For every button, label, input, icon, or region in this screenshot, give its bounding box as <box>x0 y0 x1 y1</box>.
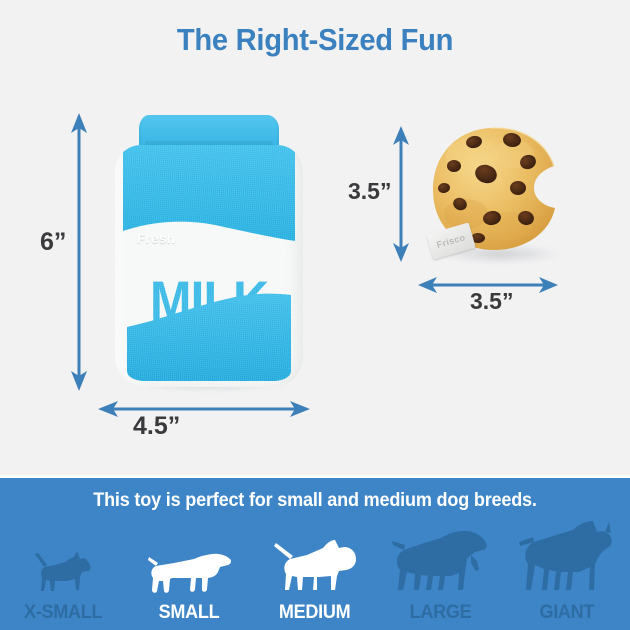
cookie-plush-toy: Frisco <box>430 126 572 266</box>
breed-item-large[interactable]: LARGE <box>378 516 504 628</box>
breed-item-small[interactable]: SMALL <box>126 516 252 628</box>
page-title: The Right-Sized Fun <box>19 22 611 58</box>
cookie-width-label: 3.5” <box>470 288 513 315</box>
dachshund-silhouette-icon <box>146 520 232 598</box>
bull-terrier-silhouette-icon <box>273 520 357 598</box>
breed-size-scale: X-SMALL SMALL MEDIUM <box>0 516 630 628</box>
breed-label-x-small: X-SMALL <box>24 598 102 628</box>
breed-label-large: LARGE <box>410 598 472 628</box>
milk-carton-body: Fresh MILK <box>115 145 303 387</box>
milk-height-label: 6” <box>40 228 66 257</box>
retriever-silhouette-icon <box>391 520 491 598</box>
dog-breed-size-banner: This toy is perfect for small and medium… <box>0 475 630 630</box>
milk-carton-blue-bottom-wave <box>123 293 295 387</box>
milk-carton-blue-top-panel <box>123 145 295 275</box>
size-comparison-area: The Right-Sized Fun <box>0 0 630 475</box>
breed-banner-caption: This toy is perfect for small and medium… <box>16 490 615 512</box>
milk-carton-plush-toy: Fresh MILK <box>115 115 303 393</box>
cookie-height-arrow <box>392 126 410 267</box>
chihuahua-silhouette-icon <box>33 520 93 598</box>
product-size-infographic: The Right-Sized Fun <box>0 0 630 630</box>
milk-width-label: 4.5” <box>133 412 180 441</box>
breed-label-medium: MEDIUM <box>279 598 350 628</box>
milk-width-arrow <box>98 400 310 423</box>
breed-label-giant: GIANT <box>540 598 595 628</box>
great-dane-silhouette-icon <box>517 520 617 598</box>
breed-item-giant[interactable]: GIANT <box>504 516 630 628</box>
breed-item-x-small[interactable]: X-SMALL <box>0 516 126 628</box>
milk-height-arrow <box>70 113 88 396</box>
milk-fresh-text: Fresh <box>137 231 175 246</box>
breed-label-small: SMALL <box>159 598 220 628</box>
cookie-height-label: 3.5” <box>348 178 391 205</box>
breed-item-medium[interactable]: MEDIUM <box>252 516 378 628</box>
